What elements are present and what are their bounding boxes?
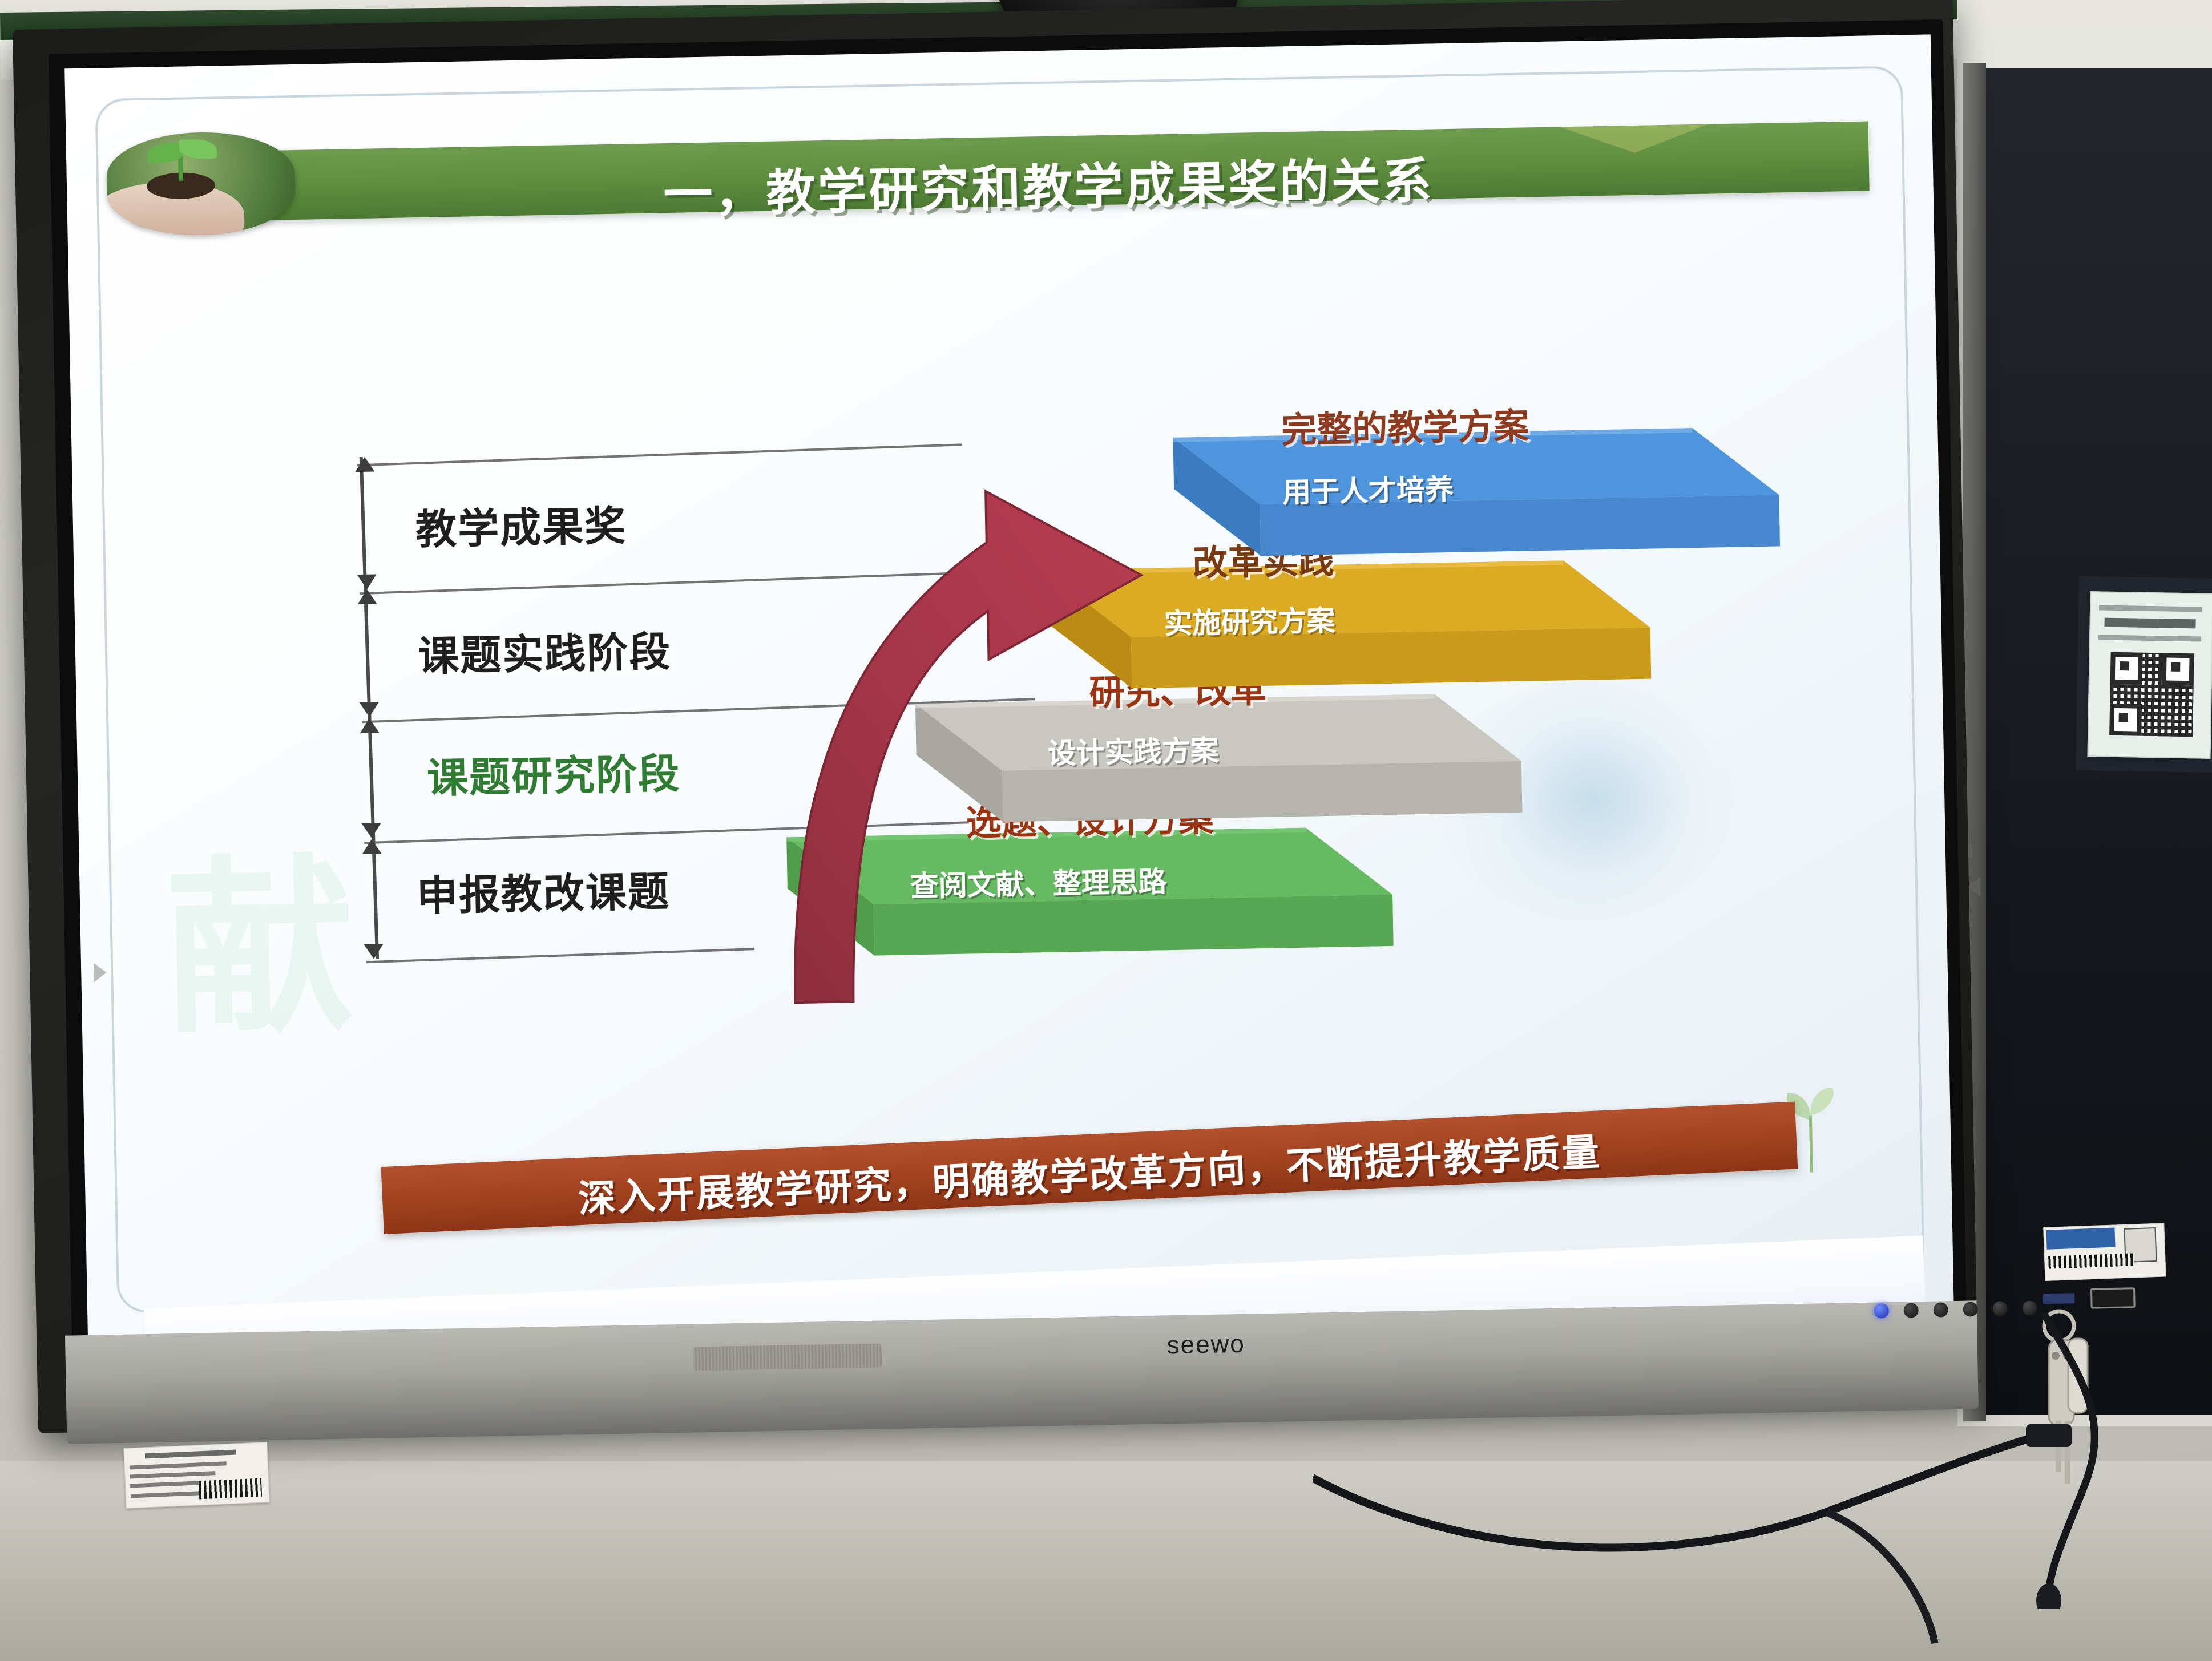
interactive-flat-panel[interactable]: 献 [13, 0, 1979, 1433]
device-sticker [2043, 1223, 2166, 1281]
axis-arrow-up-1 [357, 589, 377, 604]
growth-arrow-icon [745, 421, 1440, 1009]
tier-label-achievement-award: 教学成果奖 [415, 492, 627, 556]
scroll-left-icon[interactable] [94, 963, 107, 982]
poster-line-3 [2098, 635, 2201, 641]
asset-tag-line-2 [130, 1471, 215, 1478]
wall-poster [2087, 591, 2212, 759]
panel-button-1[interactable] [1903, 1303, 1918, 1318]
watermark-text: 献 [164, 794, 369, 1070]
asset-tag-title [145, 1450, 236, 1459]
asset-tag-label [123, 1442, 269, 1509]
scroll-right-icon[interactable] [1968, 877, 1981, 896]
usb-port-icon[interactable] [2043, 1293, 2074, 1304]
axis-arrow-down-2 [362, 823, 381, 838]
leaf-right-shape [179, 139, 217, 159]
brand-logo: seewo [1166, 1330, 1245, 1360]
slide-screen[interactable]: 献 [64, 34, 1954, 1352]
asset-tag-barcode-icon [199, 1478, 262, 1500]
room-photo: 献 [0, 0, 2212, 1661]
tier-label-practice-stage: 课题实践阶段 [417, 618, 672, 682]
sticker-blue-band [2046, 1228, 2115, 1250]
tier-label-research-stage: 课题研究阶段 [426, 740, 681, 805]
axis-arrow-down-3 [364, 944, 383, 959]
axis-arrow-down-1 [360, 702, 379, 717]
cable-loop [1940, 1312, 2146, 1609]
speaker-grille [693, 1343, 882, 1371]
asset-tag-line-3 [130, 1481, 199, 1488]
io-port-icon[interactable] [2090, 1287, 2136, 1308]
powerpoint-slide: 献 [64, 34, 1954, 1352]
qr-code-icon [2109, 652, 2194, 737]
axis-arrow-up-0 [355, 457, 374, 472]
seedling-photo-icon [106, 131, 296, 237]
sticker-barcode-icon [2048, 1253, 2134, 1268]
tier-label-apply-project: 申报教改课题 [416, 858, 671, 922]
axis-arrow-up-2 [360, 718, 379, 733]
poster-line-2 [2104, 618, 2195, 629]
asset-tag-line-1 [130, 1461, 227, 1469]
poster-line-1 [2099, 605, 2202, 612]
power-led-icon [1874, 1303, 1888, 1318]
axis-arrow-down-0 [357, 574, 377, 589]
axis-arrow-up-3 [362, 839, 381, 854]
